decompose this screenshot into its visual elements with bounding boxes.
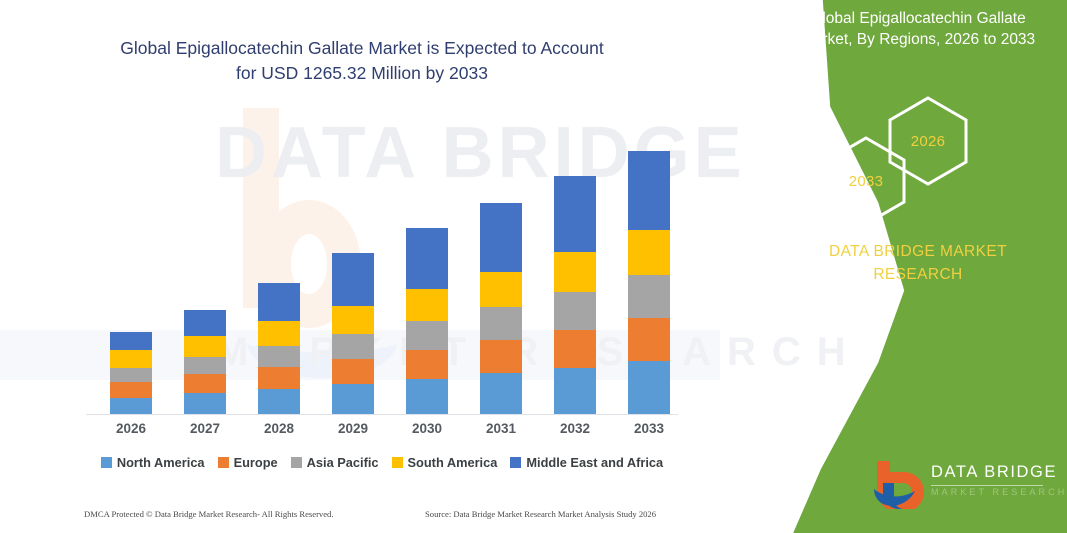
chart-bar-segment xyxy=(258,283,300,321)
chart-bar-segment xyxy=(110,350,152,368)
chart-bar-segment xyxy=(554,252,596,292)
chart-bar-segment xyxy=(110,368,152,382)
chart-legend-item[interactable]: North America xyxy=(101,455,205,470)
chart-bar xyxy=(258,283,300,414)
chart-bar xyxy=(406,228,448,414)
chart-bar-segment xyxy=(332,253,374,306)
chart-bar-segment xyxy=(406,379,448,414)
page-title: Global Epigallocatechin Gallate Market i… xyxy=(52,36,672,87)
chart-bar-segment xyxy=(628,151,670,230)
infographic-canvas: DATA BRIDGE MARKET RESEARCH Global Epiga… xyxy=(0,0,1067,533)
chart-x-tick-label: 2032 xyxy=(543,421,607,436)
chart-bar-segment xyxy=(110,332,152,350)
chart-bar-segment xyxy=(628,318,670,361)
panel-brand-line-2: RESEARCH xyxy=(783,263,1053,286)
chart-bar-segment xyxy=(628,230,670,275)
chart-x-tick-label: 2033 xyxy=(617,421,681,436)
chart-bar xyxy=(628,151,670,414)
chart-bar xyxy=(554,176,596,414)
chart-legend-item[interactable]: Europe xyxy=(218,455,278,470)
chart-x-tick-label: 2031 xyxy=(469,421,533,436)
chart-baseline xyxy=(86,414,678,415)
chart-bar-segment xyxy=(480,203,522,272)
chart-plot-area xyxy=(86,130,678,415)
chart-bar-segment xyxy=(184,374,226,393)
chart-bar-segment xyxy=(406,289,448,321)
footer-copyright: DMCA Protected © Data Bridge Market Rese… xyxy=(84,509,334,519)
data-bridge-b-mark-icon xyxy=(873,459,925,509)
legend-color-swatch xyxy=(218,457,229,468)
hexagon-badge-2026-label: 2026 xyxy=(911,133,946,150)
chart-bar-segment xyxy=(628,275,670,318)
chart-bar-segment xyxy=(332,334,374,359)
chart-x-tick-label: 2027 xyxy=(173,421,237,436)
chart-x-tick-label: 2026 xyxy=(99,421,163,436)
chart-bar-segment xyxy=(258,321,300,346)
chart-bar-segment xyxy=(554,330,596,368)
chart-x-tick-label: 2030 xyxy=(395,421,459,436)
chart-legend-item[interactable]: Middle East and Africa xyxy=(510,455,663,470)
chart-bar xyxy=(110,332,152,414)
legend-color-swatch xyxy=(510,457,521,468)
chart-bar-segment xyxy=(480,340,522,373)
chart-bar-segment xyxy=(406,228,448,289)
data-bridge-logo-name: DATA BRIDGE xyxy=(931,463,1057,482)
hexagon-badge-2026: 2026 xyxy=(885,95,971,187)
legend-label: Europe xyxy=(234,455,278,470)
chart-x-tick-label: 2029 xyxy=(321,421,385,436)
legend-color-swatch xyxy=(291,457,302,468)
panel-brand-line-1: DATA BRIDGE MARKET xyxy=(783,240,1053,263)
chart-bar xyxy=(332,253,374,414)
chart-bar xyxy=(184,310,226,414)
chart-bar-segment xyxy=(258,346,300,367)
chart-legend: North AmericaEuropeAsia PacificSouth Ame… xyxy=(86,455,678,470)
chart-bar-segment xyxy=(332,306,374,334)
chart-bar-segment xyxy=(258,389,300,414)
chart-bar-segment xyxy=(110,398,152,414)
chart-x-axis: 20262027202820292030203120322033 xyxy=(86,421,678,443)
chart-bar-segment xyxy=(406,321,448,350)
chart-bar-segment xyxy=(184,357,226,374)
chart-bar-segment xyxy=(332,359,374,384)
chart-bar-segment xyxy=(332,384,374,414)
legend-color-swatch xyxy=(101,457,112,468)
chart-legend-item[interactable]: Asia Pacific xyxy=(291,455,379,470)
chart-x-tick-label: 2028 xyxy=(247,421,311,436)
chart-bar-segment xyxy=(110,382,152,398)
chart-bar-segment xyxy=(258,367,300,389)
chart-bar-segment xyxy=(480,373,522,414)
chart-bar-segment xyxy=(184,393,226,414)
chart-bar-segment xyxy=(628,361,670,414)
legend-label: North America xyxy=(117,455,205,470)
hexagon-badge-2033-label: 2033 xyxy=(849,173,884,190)
chart-bar-segment xyxy=(554,176,596,252)
footer-source: Source: Data Bridge Market Research Mark… xyxy=(425,509,656,519)
page-title-line-2: for USD 1265.32 Million by 2033 xyxy=(52,61,672,86)
chart-bar-segment xyxy=(480,307,522,340)
logo-divider xyxy=(931,485,1043,486)
chart-bar xyxy=(480,203,522,414)
stacked-bar-chart xyxy=(86,130,678,415)
chart-bar-segment xyxy=(554,368,596,414)
chart-legend-item[interactable]: South America xyxy=(392,455,498,470)
data-bridge-logo-tagline: MARKET RESEARCH xyxy=(931,487,1067,497)
chart-bar-segment xyxy=(554,292,596,330)
legend-label: Asia Pacific xyxy=(307,455,379,470)
data-bridge-logo: DATA BRIDGE MARKET RESEARCH xyxy=(873,457,1049,511)
legend-label: South America xyxy=(408,455,498,470)
chart-bar-segment xyxy=(184,310,226,336)
panel-brand-name: DATA BRIDGE MARKET RESEARCH xyxy=(783,240,1053,287)
legend-color-swatch xyxy=(392,457,403,468)
chart-bar-segment xyxy=(480,272,522,307)
chart-bar-segment xyxy=(406,350,448,379)
chart-bar-segment xyxy=(184,336,226,357)
legend-label: Middle East and Africa xyxy=(526,455,663,470)
page-title-line-1: Global Epigallocatechin Gallate Market i… xyxy=(52,36,672,61)
hexagon-badge-group: 2033 2026 xyxy=(697,0,1067,220)
